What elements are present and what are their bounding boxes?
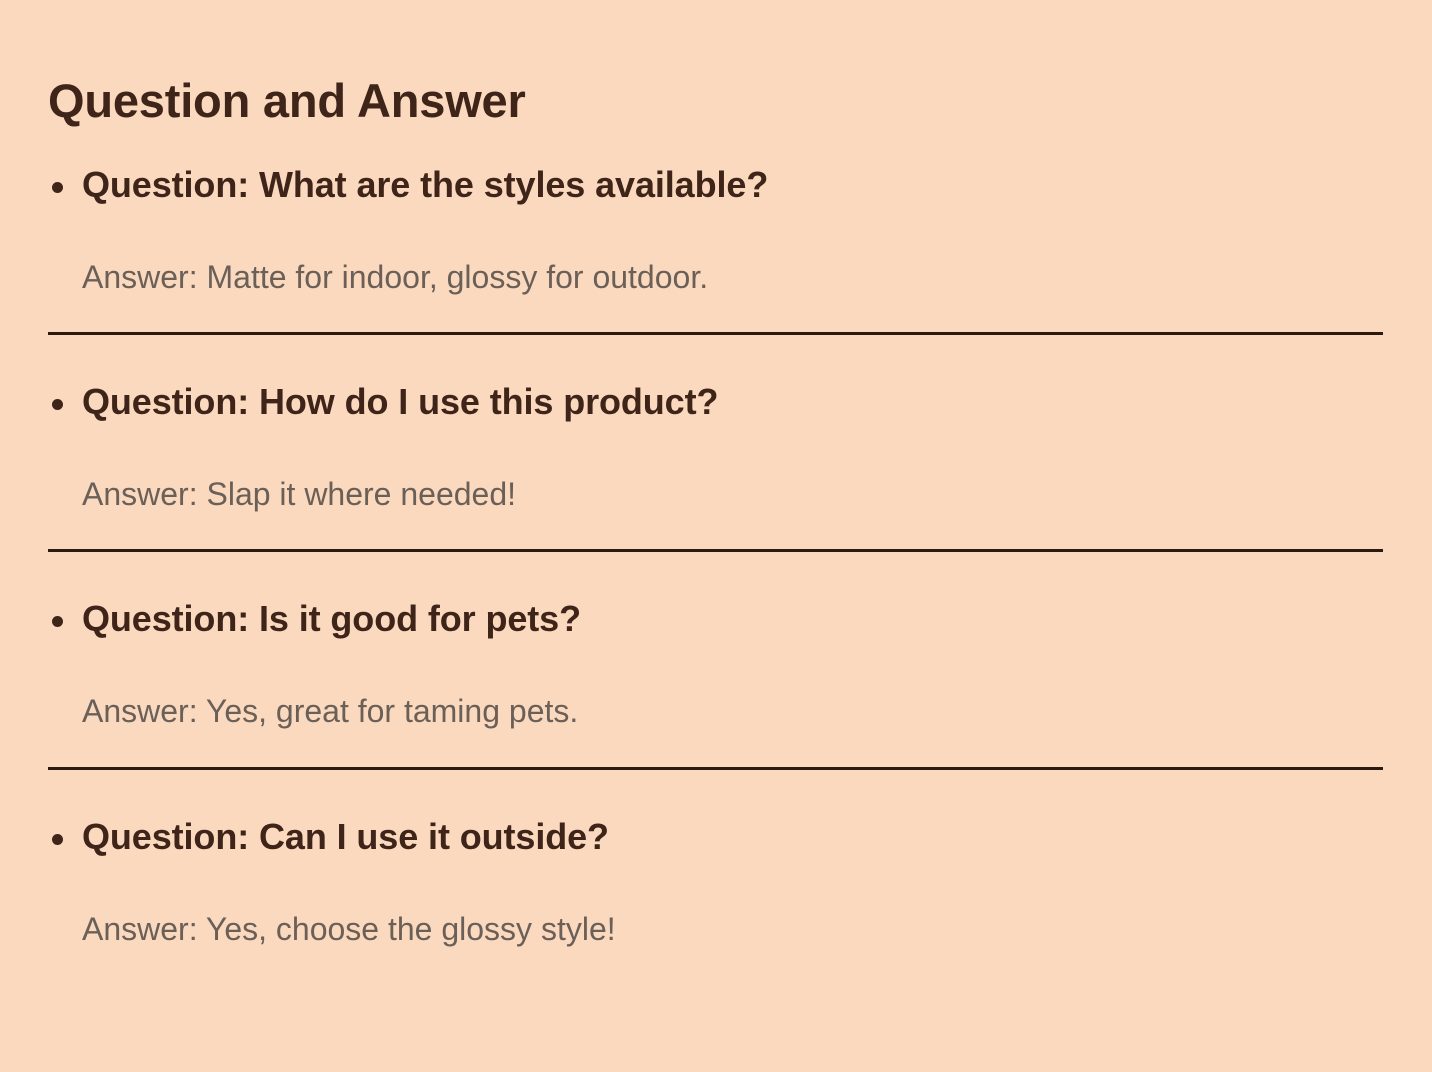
answer-row: Answer: Slap it where needed! <box>0 437 1432 516</box>
qa-block: Question: How do I use this product? Ans… <box>0 377 1432 516</box>
answer-row: Answer: Yes, choose the glossy style! <box>0 872 1432 951</box>
question-text: Question: Can I use it outside? <box>82 812 1432 862</box>
question-text: Question: How do I use this product? <box>82 377 1432 427</box>
question-text: Question: What are the styles available? <box>82 160 1432 210</box>
qa-spacer <box>0 552 1432 594</box>
question-text: Question: Is it good for pets? <box>82 594 1432 644</box>
question-row: Question: Is it good for pets? <box>0 594 1432 654</box>
page-title: Question and Answer <box>48 74 526 128</box>
bullet-dot-icon <box>52 182 63 193</box>
qa-page: Question and Answer Question: What are t… <box>0 0 1432 1072</box>
qa-list: Question: What are the styles available?… <box>0 160 1432 987</box>
list-item: Question: Is it good for pets? Answer: Y… <box>0 594 1432 811</box>
answer-row: Answer: Yes, great for taming pets. <box>0 654 1432 733</box>
bullet-dot-icon <box>52 399 63 410</box>
qa-block: Question: Can I use it outside? Answer: … <box>0 812 1432 951</box>
answer-text: Answer: Yes, great for taming pets. <box>82 690 1432 733</box>
bullet-dot-icon <box>52 616 63 627</box>
answer-row: Answer: Matte for indoor, glossy for out… <box>0 220 1432 299</box>
qa-spacer <box>0 770 1432 812</box>
qa-block: Question: Is it good for pets? Answer: Y… <box>0 594 1432 733</box>
qa-block: Question: What are the styles available?… <box>0 160 1432 299</box>
question-row: Question: How do I use this product? <box>0 377 1432 437</box>
list-item: Question: How do I use this product? Ans… <box>0 377 1432 594</box>
list-item: Question: What are the styles available?… <box>0 160 1432 377</box>
question-row: Question: What are the styles available? <box>0 160 1432 220</box>
answer-text: Answer: Yes, choose the glossy style! <box>82 908 1432 951</box>
answer-text: Answer: Slap it where needed! <box>82 473 1432 516</box>
qa-spacer <box>0 335 1432 377</box>
question-row: Question: Can I use it outside? <box>0 812 1432 872</box>
list-item: Question: Can I use it outside? Answer: … <box>0 812 1432 987</box>
answer-text: Answer: Matte for indoor, glossy for out… <box>82 256 1432 299</box>
bullet-dot-icon <box>52 834 63 845</box>
